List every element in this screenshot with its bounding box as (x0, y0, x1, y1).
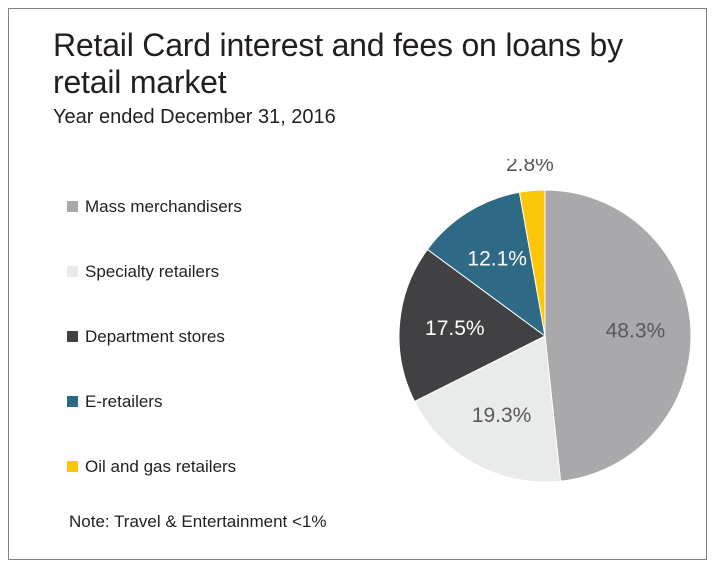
pie-slice-label: 12.1% (467, 248, 527, 271)
legend-swatch-icon (67, 461, 78, 472)
legend-item-label: Oil and gas retailers (85, 457, 236, 477)
pie-chart: 48.3%19.3%17.5%12.1%2.8% (381, 159, 701, 499)
pie-svg: 48.3%19.3%17.5%12.1%2.8% (381, 159, 701, 499)
legend-swatch-icon (67, 201, 78, 212)
pie-slice-label: 17.5% (425, 317, 485, 340)
chart-note: Note: Travel & Entertainment <1% (69, 512, 327, 532)
legend-item-label: E-retailers (85, 392, 162, 412)
legend-item[interactable]: E-retailers (67, 369, 367, 434)
legend-swatch-icon (67, 331, 78, 342)
legend-item[interactable]: Mass merchandisers (67, 174, 367, 239)
legend-item-label: Mass merchandisers (85, 197, 242, 217)
pie-slice-label: 48.3% (606, 320, 666, 343)
chart-legend: Mass merchandisersSpecialty retailersDep… (67, 174, 367, 499)
legend-item-label: Department stores (85, 327, 225, 347)
chart-figure: Retail Card interest and fees on loans b… (8, 8, 707, 560)
page-title: Retail Card interest and fees on loans b… (53, 27, 693, 101)
legend-swatch-icon (67, 396, 78, 407)
title-block: Retail Card interest and fees on loans b… (53, 27, 693, 130)
legend-item[interactable]: Oil and gas retailers (67, 434, 367, 499)
legend-item-label: Specialty retailers (85, 262, 219, 282)
legend-swatch-icon (67, 266, 78, 277)
legend-item[interactable]: Department stores (67, 304, 367, 369)
pie-slice-label: 2.8% (506, 159, 554, 176)
chart-subtitle: Year ended December 31, 2016 (53, 105, 693, 130)
legend-item[interactable]: Specialty retailers (67, 239, 367, 304)
pie-slice-label: 19.3% (472, 404, 532, 427)
